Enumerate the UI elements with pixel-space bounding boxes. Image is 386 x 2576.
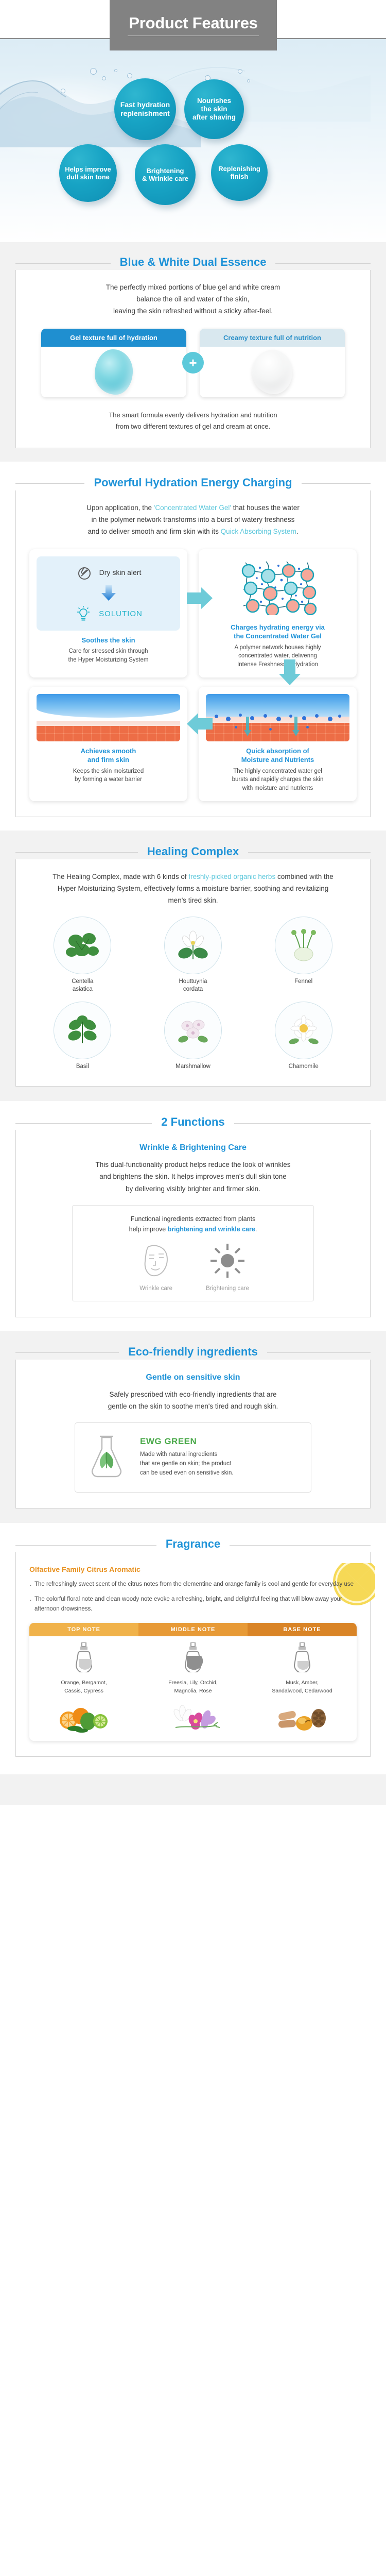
note-name-line: Magnolia, Rose	[174, 1688, 212, 1694]
dual-texture-cards: Gel texture full of hydration + Creamy t…	[29, 329, 357, 397]
frame-line-right	[302, 483, 371, 484]
healing-lead: The Healing Complex, made with 6 kinds o…	[49, 871, 337, 907]
feature-circle-replenishing-finish: Replenishing finish	[211, 144, 268, 201]
lead-text: in the polymer network transforms into a…	[92, 516, 295, 523]
frame-line-left	[15, 1123, 152, 1124]
leaf-flask-icon	[84, 1433, 129, 1481]
feature-circle-nourishes: Nourishes the skin after shaving	[184, 79, 244, 139]
healing-title: Healing Complex	[138, 845, 248, 858]
solution-label: SOLUTION	[99, 609, 143, 618]
herb-image-fennel	[275, 917, 332, 974]
lead-line: Safely prescribed with eco-friendly ingr…	[110, 1391, 277, 1398]
dual-essence-title-row: Blue & White Dual Essence	[15, 257, 371, 270]
product-features-header: Product Features	[110, 0, 277, 50]
functions-section: 2 Functions Wrinkle & Brightening Care T…	[0, 1101, 386, 1331]
desc-line: that are gentle on skin; the product	[140, 1461, 231, 1467]
functions-box-lead: Functional ingredients extracted from pl…	[78, 1214, 308, 1234]
frame-line-right	[234, 1123, 371, 1124]
ewg-green-description: Made with natural ingredients that are g…	[140, 1450, 234, 1478]
title-line: Quick absorption of	[246, 747, 309, 755]
panel-dry-skin-solution: Dry skin alert	[29, 549, 187, 677]
gel-texture-card: Gel texture full of hydration	[41, 329, 186, 397]
product-features-page: Product Features Fast hydration replenis…	[0, 0, 386, 1805]
desc-line: Care for stressed skin through	[68, 648, 148, 654]
circle-line: after shaving	[192, 113, 236, 121]
title-line: Achieves smooth	[81, 747, 136, 755]
skin-barrier-image	[37, 694, 180, 741]
panel4-desc: The highly concentrated water gel bursts…	[206, 767, 349, 793]
eco-section: Eco-friendly ingredients Gentle on sensi…	[0, 1331, 386, 1523]
functions-title-row: 2 Functions	[15, 1116, 371, 1130]
box-lead-bold: brightening and wrinkle care	[168, 1226, 255, 1233]
circle-line: Helps improve	[65, 165, 111, 173]
fragrance-title: Fragrance	[156, 1537, 230, 1551]
panel3-title: Achieves smooth and firm skin	[37, 747, 180, 765]
herb-item-houttuynia-cordata: Houttuynia cordata	[140, 917, 247, 993]
lead-text: Upon application, the	[86, 504, 154, 512]
desc-line: The highly concentrated water gel	[233, 768, 322, 774]
hydration-section: Powerful Hydration Energy Charging Upon …	[0, 462, 386, 831]
function-caption: Wrinkle care	[137, 1285, 175, 1292]
cream-card-caption: Creamy texture full of nutrition	[200, 329, 345, 347]
title-line: Moisture and Nutrients	[241, 756, 314, 764]
footer-line: The smart formula evenly delivers hydrat…	[109, 411, 277, 419]
herb-item-basil: Basil	[29, 1002, 136, 1071]
desc-line: Intense Freshness + Hydration	[237, 662, 318, 668]
ewg-green-box: EWG GREEN Made with natural ingredients …	[75, 1422, 311, 1493]
lead-highlight: Quick Absorbing System	[221, 528, 296, 535]
desc-line: bursts and rapidly charges the skin	[232, 776, 324, 783]
herb-name-line: Centella	[72, 978, 93, 985]
dry-skin-alert-label: Dry skin alert	[99, 568, 142, 577]
panel3-desc: Keeps the skin moisturized by forming a …	[37, 767, 180, 784]
dual-essence-footer: The smart formula evenly delivers hydrat…	[29, 410, 357, 432]
eco-body: Gentle on sensitive skin Safely prescrib…	[15, 1360, 371, 1509]
fragrance-bullet: The colorful floral note and clean woody…	[29, 1595, 357, 1615]
functions-subtitle: Wrinkle & Brightening Care	[29, 1143, 357, 1153]
desc-line: A polymer network houses highly	[234, 645, 321, 651]
lead-line: gentle on the skin to soothe men's tired…	[108, 1402, 278, 1410]
functions-title: 2 Functions	[152, 1115, 234, 1129]
healing-title-row: Healing Complex	[15, 846, 371, 859]
fragrance-notes-card: TOP NOTE Orange, Bergamot, Cassis, Cypre…	[29, 1623, 357, 1741]
lead-text: that houses the water	[231, 504, 300, 512]
herb-name-line: Fennel	[294, 978, 312, 985]
panel-quick-absorption: Quick absorption of Moisture and Nutrien…	[199, 687, 357, 801]
flow-arrow-down-icon	[279, 659, 301, 685]
panel-concentrated-water-gel: Charges hydrating energy via the Concent…	[199, 549, 357, 677]
function-caption: Brightening care	[206, 1285, 249, 1292]
desc-line: can be used even on sensitive skin.	[140, 1470, 234, 1476]
lead-line: balance the oil and water of the skin,	[136, 295, 249, 303]
polymer-network-image	[239, 557, 317, 615]
desc-line: by forming a water barrier	[75, 776, 142, 783]
fragrance-bullets: The refreshingly sweet scent of the citr…	[29, 1580, 357, 1615]
functions-box: Functional ingredients extracted from pl…	[72, 1205, 314, 1301]
fragrance-body: Olfactive Family Citrus Aromatic The ref…	[15, 1552, 371, 1757]
lead-highlight: 'Concentrated Water Gel'	[154, 504, 231, 512]
circle-line: & Wrinkle care	[142, 175, 188, 182]
lead-text: The Healing Complex, made with 6 kinds o…	[52, 873, 188, 880]
feature-circle-dull-skin-tone: Helps improve dull skin tone	[59, 144, 117, 202]
note-name-line: Orange, Bergamot,	[61, 1680, 107, 1686]
herb-name: Marshmallow	[140, 1063, 247, 1071]
circle-line: dull skin tone	[66, 173, 110, 181]
hydration-title: Powerful Hydration Energy Charging	[84, 476, 301, 489]
box-lead-line: Functional ingredients extracted from pl…	[131, 1215, 256, 1223]
dual-essence-title: Blue & White Dual Essence	[111, 256, 276, 269]
eco-title: Eco-friendly ingredients	[119, 1345, 267, 1359]
note-name-line: Cassis, Cypress	[64, 1688, 103, 1694]
dry-drop-slash-icon	[76, 564, 93, 581]
frame-line-left	[15, 1352, 119, 1353]
note-column-base: BASE NOTE Musk, Amber, Sandalwood, Cedar…	[248, 1623, 357, 1741]
herb-item-chamomile: Chamomile	[250, 1002, 357, 1071]
ewg-green-title: EWG GREEN	[140, 1436, 234, 1447]
lead-highlight: freshly-picked organic herbs	[188, 873, 275, 880]
hydration-panels-grid: Dry skin alert	[29, 549, 357, 801]
panel-smooth-firm-skin: Achieves smooth and firm skin Keeps the …	[29, 687, 187, 801]
note-name-line: Sandalwood, Cedarwood	[272, 1688, 332, 1694]
bottom-spacer	[0, 1774, 386, 1805]
note-header-base: BASE NOTE	[248, 1623, 357, 1636]
eco-title-row: Eco-friendly ingredients	[15, 1346, 371, 1360]
footer-line: from two different textures of gel and c…	[116, 422, 270, 430]
title-underline	[128, 36, 259, 36]
desc-line: Made with natural ingredients	[140, 1451, 217, 1458]
function-item-brightening-care: Brightening care	[206, 1242, 249, 1292]
note-image-woods-amber	[252, 1702, 353, 1733]
lead-line: by delivering visibly brighter and firme…	[126, 1185, 260, 1193]
dual-essence-body: The perfectly mixed portions of blue gel…	[15, 270, 371, 448]
panel1-desc: Care for stressed skin through the Hyper…	[37, 647, 180, 664]
sun-brightness-icon	[208, 1242, 247, 1280]
absorb-arrow-icon	[292, 717, 300, 737]
function-item-wrinkle-care: Wrinkle care	[137, 1242, 175, 1292]
fragrance-headline: Olfactive Family Citrus Aromatic	[29, 1565, 357, 1573]
herb-item-marshmallow: Marshmallow	[140, 1002, 247, 1071]
solution-row: SOLUTION	[74, 605, 143, 623]
note-image-citrus	[33, 1702, 134, 1733]
panel1-title: Soothes the skin	[37, 636, 180, 645]
herb-item-fennel: Fennel	[250, 917, 357, 993]
circle-line: Fast hydration	[120, 100, 170, 109]
feature-circle-fast-hydration: Fast hydration replenishment	[114, 78, 176, 140]
fragrance-bullet: The refreshingly sweet scent of the citr…	[29, 1580, 357, 1590]
water-droplets-layer	[206, 714, 349, 724]
circle-line: Replenishing	[218, 165, 260, 173]
lead-line: leaving the skin refreshed without a sti…	[113, 307, 273, 315]
desc-line: Keeps the skin moisturized	[73, 768, 144, 774]
note-column-middle: MIDDLE NOTE Freesia, Lily, Orchid, Magno…	[138, 1623, 248, 1741]
desc-line: the Hyper Moisturizing System	[68, 657, 149, 663]
panel2-desc: A polymer network houses highly concentr…	[206, 643, 349, 669]
herb-name: Basil	[29, 1063, 136, 1071]
lead-line: This dual-functionality product helps re…	[96, 1161, 291, 1168]
feature-circle-brightening-wrinkle: Brightening & Wrinkle care	[135, 144, 196, 205]
feature-circles-group: Fast hydration replenishment Nourishes t…	[0, 72, 386, 242]
circle-line: Brightening	[147, 167, 184, 175]
absorb-arrow-icon	[243, 717, 252, 737]
eco-lead: Safely prescribed with eco-friendly ingr…	[29, 1388, 357, 1412]
herb-name: Centella asiatica	[29, 978, 136, 993]
frame-line-right	[275, 263, 371, 264]
eco-subtitle: Gentle on sensitive skin	[29, 1373, 357, 1382]
note-name-line: Freesia, Lily, Orchid,	[168, 1680, 218, 1686]
moisture-absorption-image	[206, 694, 349, 741]
panel2-title: Charges hydrating energy via the Concent…	[206, 623, 349, 641]
circle-line: Nourishes	[197, 97, 231, 105]
title-line: and firm skin	[87, 756, 129, 764]
perfume-bottle-icon	[290, 1642, 314, 1672]
ewg-text-block: EWG GREEN Made with natural ingredients …	[140, 1436, 234, 1478]
dry-skin-alert-box: Dry skin alert	[37, 556, 180, 631]
herb-image-centella	[54, 917, 111, 974]
frame-line-right	[267, 1352, 371, 1353]
face-wrinkle-icon	[137, 1242, 175, 1280]
frame-line-left	[15, 852, 138, 853]
hero-section: Product Features Fast hydration replenis…	[0, 0, 386, 242]
hydration-title-row: Powerful Hydration Energy Charging	[15, 477, 371, 490]
flow-arrow-left-icon	[187, 713, 213, 735]
flow-arrow-right-icon	[187, 587, 213, 609]
herb-name-line: Basil	[76, 1063, 89, 1070]
perfume-bottle-icon	[181, 1642, 205, 1672]
herb-name: Chamomile	[250, 1063, 357, 1071]
dry-skin-alert-row: Dry skin alert	[76, 564, 142, 581]
note-header-top: TOP NOTE	[29, 1623, 138, 1636]
herb-name-line: Houttuynia	[179, 978, 207, 985]
herb-grid: Centella asiatica Houttuynia	[29, 917, 357, 1071]
cream-texture-image	[200, 347, 345, 397]
title-line: the Concentrated Water Gel	[234, 632, 322, 640]
circle-line: replenishment	[120, 109, 170, 117]
desc-line: concentrated water, delivering	[238, 653, 317, 659]
functions-lead: This dual-functionality product helps re…	[29, 1159, 357, 1195]
cream-texture-card: Creamy texture full of nutrition	[200, 329, 345, 397]
frame-line-right	[230, 1545, 371, 1546]
frame-line-left	[15, 483, 84, 484]
desc-line: with moisture and nutrients	[242, 785, 313, 791]
page-title: Product Features	[129, 15, 257, 31]
note-names-middle: Freesia, Lily, Orchid, Magnolia, Rose	[143, 1679, 243, 1696]
frame-line-left	[15, 263, 111, 264]
note-names-top: Orange, Bergamot, Cassis, Cypress	[33, 1679, 134, 1696]
gel-texture-image	[41, 347, 186, 397]
herb-name: Fennel	[250, 978, 357, 986]
herb-image-basil	[54, 1002, 111, 1059]
lead-line: The perfectly mixed portions of blue gel…	[106, 283, 280, 291]
healing-complex-section: Healing Complex The Healing Complex, mad…	[0, 831, 386, 1101]
note-image-flowers	[143, 1702, 243, 1733]
hydration-lead: Upon application, the 'Concentrated Wate…	[29, 502, 357, 538]
note-header-middle: MIDDLE NOTE	[138, 1623, 248, 1636]
herb-name-line: Marshmallow	[176, 1063, 210, 1070]
panel4-title: Quick absorption of Moisture and Nutrien…	[206, 747, 349, 765]
lightbulb-icon	[74, 605, 93, 623]
herb-image-marshmallow	[164, 1002, 222, 1059]
note-names-base: Musk, Amber, Sandalwood, Cedarwood	[252, 1679, 353, 1696]
herb-image-chamomile	[275, 1002, 332, 1059]
fragrance-section: Fragrance Olfactive Family Ci	[0, 1523, 386, 1774]
perfume-bottle-icon	[72, 1642, 96, 1672]
herb-name-line: Chamomile	[289, 1063, 319, 1070]
gel-card-caption: Gel texture full of hydration	[41, 329, 186, 347]
box-lead-line: .	[255, 1226, 257, 1233]
herb-item-centella-asiatica: Centella asiatica	[29, 917, 136, 993]
fragrance-title-row: Fragrance	[15, 1538, 371, 1552]
herb-image-houttuynia	[164, 917, 222, 974]
frame-line-left	[15, 1545, 156, 1546]
note-column-top: TOP NOTE Orange, Bergamot, Cassis, Cypre…	[29, 1623, 138, 1741]
circle-line: finish	[231, 173, 249, 180]
title-line: Charges hydrating energy via	[231, 623, 325, 631]
functions-body: Wrinkle & Brightening Care This dual-fun…	[15, 1130, 371, 1317]
box-lead-line: help improve	[129, 1226, 168, 1233]
functions-icon-row: Wrinkle care Brightening care	[78, 1242, 308, 1292]
frame-line-right	[248, 852, 371, 853]
down-arrow-icon	[99, 584, 118, 602]
note-name-line: Musk, Amber,	[286, 1680, 319, 1686]
herb-name-line: asiatica	[73, 986, 93, 992]
lead-text: .	[296, 528, 299, 535]
dual-essence-lead: The perfectly mixed portions of blue gel…	[29, 281, 357, 317]
lead-text: and to deliver smooth and firm skin with…	[88, 528, 221, 535]
herb-name-line: cordata	[183, 986, 203, 992]
dual-essence-section: Blue & White Dual Essence The perfectly …	[0, 242, 386, 462]
lead-line: and brightens the skin. It helps improve…	[99, 1173, 287, 1180]
circle-line: the skin	[201, 105, 227, 113]
healing-body: The Healing Complex, made with 6 kinds o…	[15, 859, 371, 1087]
herb-name: Houttuynia cordata	[140, 978, 247, 993]
plus-icon: +	[182, 352, 204, 374]
hydration-body: Upon application, the 'Concentrated Wate…	[15, 490, 371, 817]
